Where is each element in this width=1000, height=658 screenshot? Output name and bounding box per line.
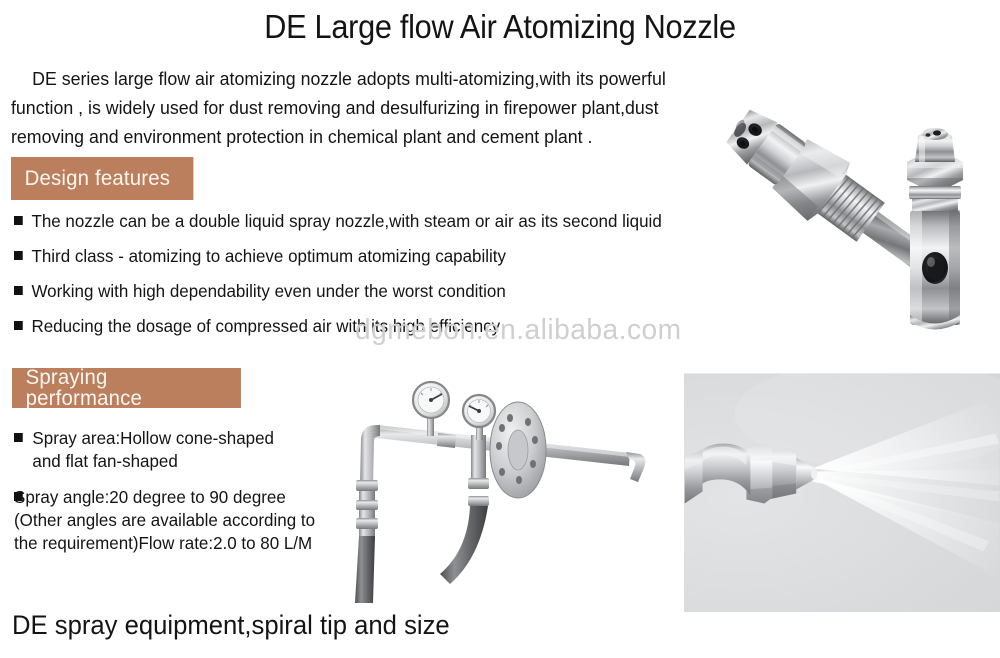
footer-caption: DE spray equipment,spiral tip and size [12, 608, 450, 642]
pipe-manifold-photo [330, 378, 680, 603]
bullet-square-icon [14, 433, 23, 442]
section-badge-design-features: Design features [11, 157, 193, 200]
spraying-performance-bullet-list: Spray area:Hollow cone-shaped and flat f… [14, 427, 344, 568]
list-item-label: Reducing the dosage of compressed air wi… [31, 315, 683, 338]
spray-pattern-photo [684, 373, 1000, 612]
bullet-square-icon [14, 321, 23, 330]
intro-paragraph: DE series large flow air atomizing nozzl… [11, 64, 721, 151]
list-item: Working with high dependability even und… [14, 280, 683, 303]
page-title: DE Large flow Air Atomizing Nozzle [35, 8, 965, 46]
bullet-square-icon [14, 286, 23, 295]
section-badge-spraying-performance: Spraying performance [12, 368, 241, 408]
list-item-label: Spray angle:20 degree to 90 degree (Othe… [14, 486, 334, 555]
design-features-bullet-list: The nozzle can be a double liquid spray … [14, 210, 704, 350]
list-item: Spray angle:20 degree to 90 degree (Othe… [14, 486, 334, 555]
list-item-label: Third class - atomizing to achieve optim… [31, 245, 683, 268]
bullet-square-icon [14, 251, 23, 260]
list-item: Third class - atomizing to achieve optim… [14, 245, 683, 268]
bullet-square-icon [14, 216, 23, 225]
list-item-label: The nozzle can be a double liquid spray … [31, 210, 683, 233]
product-detail-page: DE Large flow Air Atomizing Nozzle DE se… [0, 0, 1000, 658]
list-item: The nozzle can be a double liquid spray … [14, 210, 683, 233]
list-item-label: Spray area:Hollow cone-shaped and flat f… [32, 427, 334, 473]
list-item: Reducing the dosage of compressed air wi… [14, 315, 683, 338]
list-item-label: Working with high dependability even und… [31, 280, 683, 303]
list-item: Spray area:Hollow cone-shaped and flat f… [14, 427, 334, 473]
nozzle-assembly-photo [690, 45, 1000, 365]
